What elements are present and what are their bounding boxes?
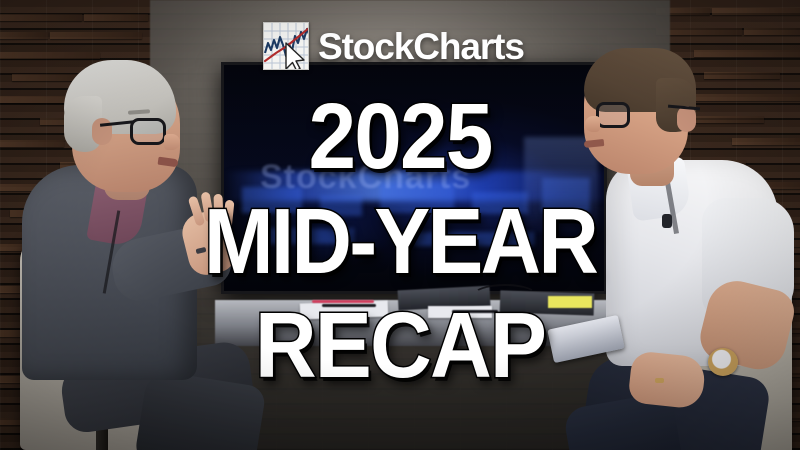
desk-pen-black (322, 304, 376, 307)
wall-mounted-tv: StockCharts (221, 62, 607, 294)
lapel-microphone-icon (662, 214, 672, 228)
host-left-nose (164, 134, 180, 150)
host-right (570, 48, 800, 450)
host-right-ring (655, 378, 664, 383)
host-left-glasses-lens (130, 118, 166, 145)
wristwatch-icon (708, 348, 738, 376)
video-thumbnail: StockCharts (0, 0, 800, 450)
tv-overlay-text: StockCharts (260, 158, 584, 197)
host-left-finger (222, 200, 234, 231)
host-left-finger (213, 194, 223, 224)
chair-left-leg (96, 428, 108, 450)
host-right-nose (585, 116, 600, 132)
stockcharts-logo: StockCharts (263, 22, 524, 70)
stockcharts-wordmark: StockCharts (318, 28, 524, 65)
host-left (0, 60, 250, 450)
desk-stylus (452, 310, 498, 313)
desk-cable (472, 284, 538, 308)
stock-chart-cursor-icon (263, 22, 309, 70)
host-right-glasses-lens (596, 102, 630, 128)
desk-pen-red (312, 300, 374, 303)
